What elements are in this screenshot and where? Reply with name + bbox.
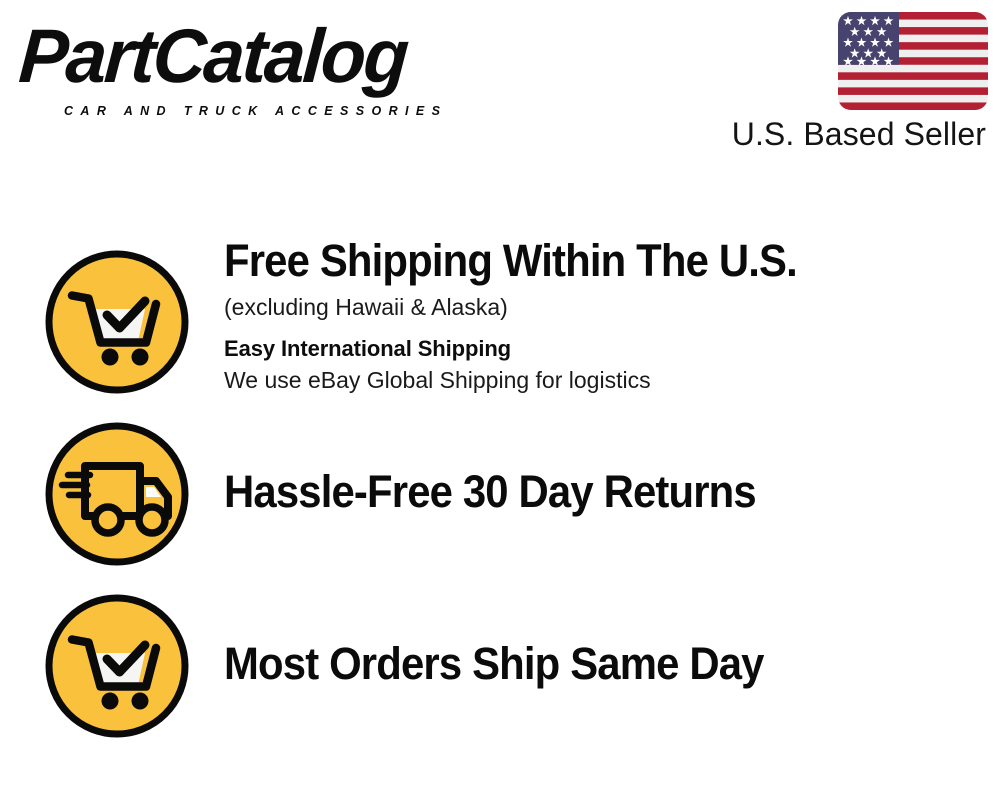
us-flag-icon — [838, 12, 988, 110]
feature-text-block: Hassle-Free 30 Day Returns — [224, 467, 984, 517]
brand-logo: PartCatalog CAR AND TRUCK ACCESSORIES — [22, 18, 492, 120]
feature-text-block: Free Shipping Within The U.S. (excluding… — [224, 230, 984, 396]
feature-note: (excluding Hawaii & Alaska) — [224, 291, 984, 323]
feature-row: Most Orders Ship Same Day — [0, 591, 1000, 741]
feature-heading: Hassle-Free 30 Day Returns — [224, 467, 931, 517]
shopping-cart-check-icon — [42, 591, 192, 741]
delivery-truck-icon — [42, 419, 192, 569]
feature-row: Free Shipping Within The U.S. (excluding… — [0, 230, 1000, 406]
seller-location-label: U.S. Based Seller — [732, 116, 986, 153]
feature-subheading: Easy International Shipping — [224, 333, 984, 364]
feature-heading: Free Shipping Within The U.S. — [224, 236, 931, 286]
brand-tagline: CAR AND TRUCK ACCESSORIES — [64, 104, 447, 118]
feature-row: Hassle-Free 30 Day Returns — [0, 419, 1000, 569]
shopping-cart-check-icon — [42, 247, 192, 397]
feature-text-block: Most Orders Ship Same Day — [224, 639, 984, 689]
feature-subnote: We use eBay Global Shipping for logistic… — [224, 364, 984, 396]
feature-heading: Most Orders Ship Same Day — [224, 639, 931, 689]
brand-wordmark: PartCatalog — [17, 18, 409, 96]
